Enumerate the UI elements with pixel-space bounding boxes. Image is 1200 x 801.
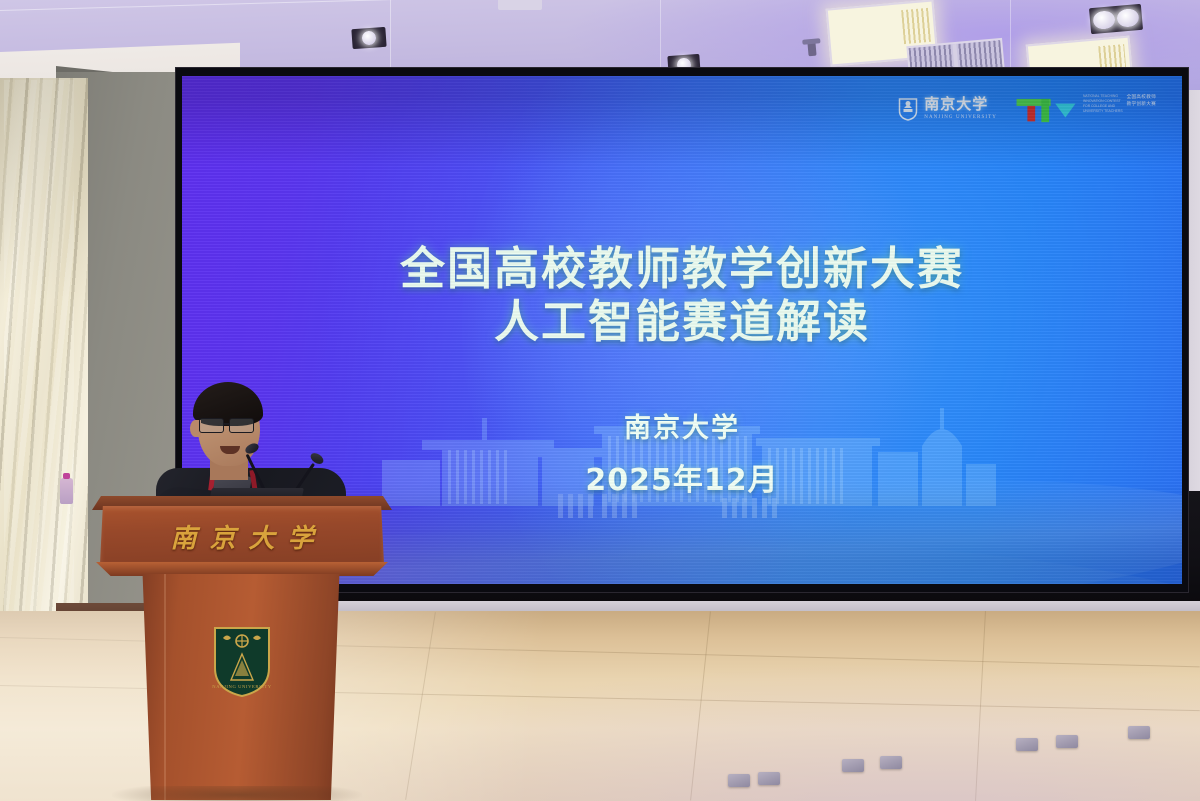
glasses-icon xyxy=(197,418,261,434)
spot-light xyxy=(351,27,386,49)
conference-hall-photo: 南京大学 NANJING UNIVERSITY NATIONAL TEACHIN… xyxy=(0,0,1200,801)
light-grille xyxy=(901,8,931,44)
podium-lip xyxy=(96,562,388,576)
floor-socket xyxy=(1016,738,1038,751)
floor-socket xyxy=(1056,735,1078,748)
university-crest-icon: NANJING UNIVERSITY xyxy=(211,624,273,698)
sprinkler-icon xyxy=(807,42,816,57)
podium-nameplate: 南京大学 xyxy=(92,518,392,555)
water-bottle xyxy=(60,478,73,504)
floor-socket xyxy=(728,774,750,787)
floor-socket xyxy=(842,759,864,772)
floor-socket xyxy=(758,772,780,785)
svg-text:NANJING UNIVERSITY: NANJING UNIVERSITY xyxy=(212,684,271,689)
podium: 南京大学 NANJING UNIVERSITY xyxy=(92,496,392,801)
spot-light xyxy=(498,0,542,10)
floor-socket xyxy=(880,756,902,769)
floor-socket xyxy=(1128,726,1150,739)
podium-floor-shadow xyxy=(112,786,362,801)
spot-light xyxy=(1089,4,1143,34)
